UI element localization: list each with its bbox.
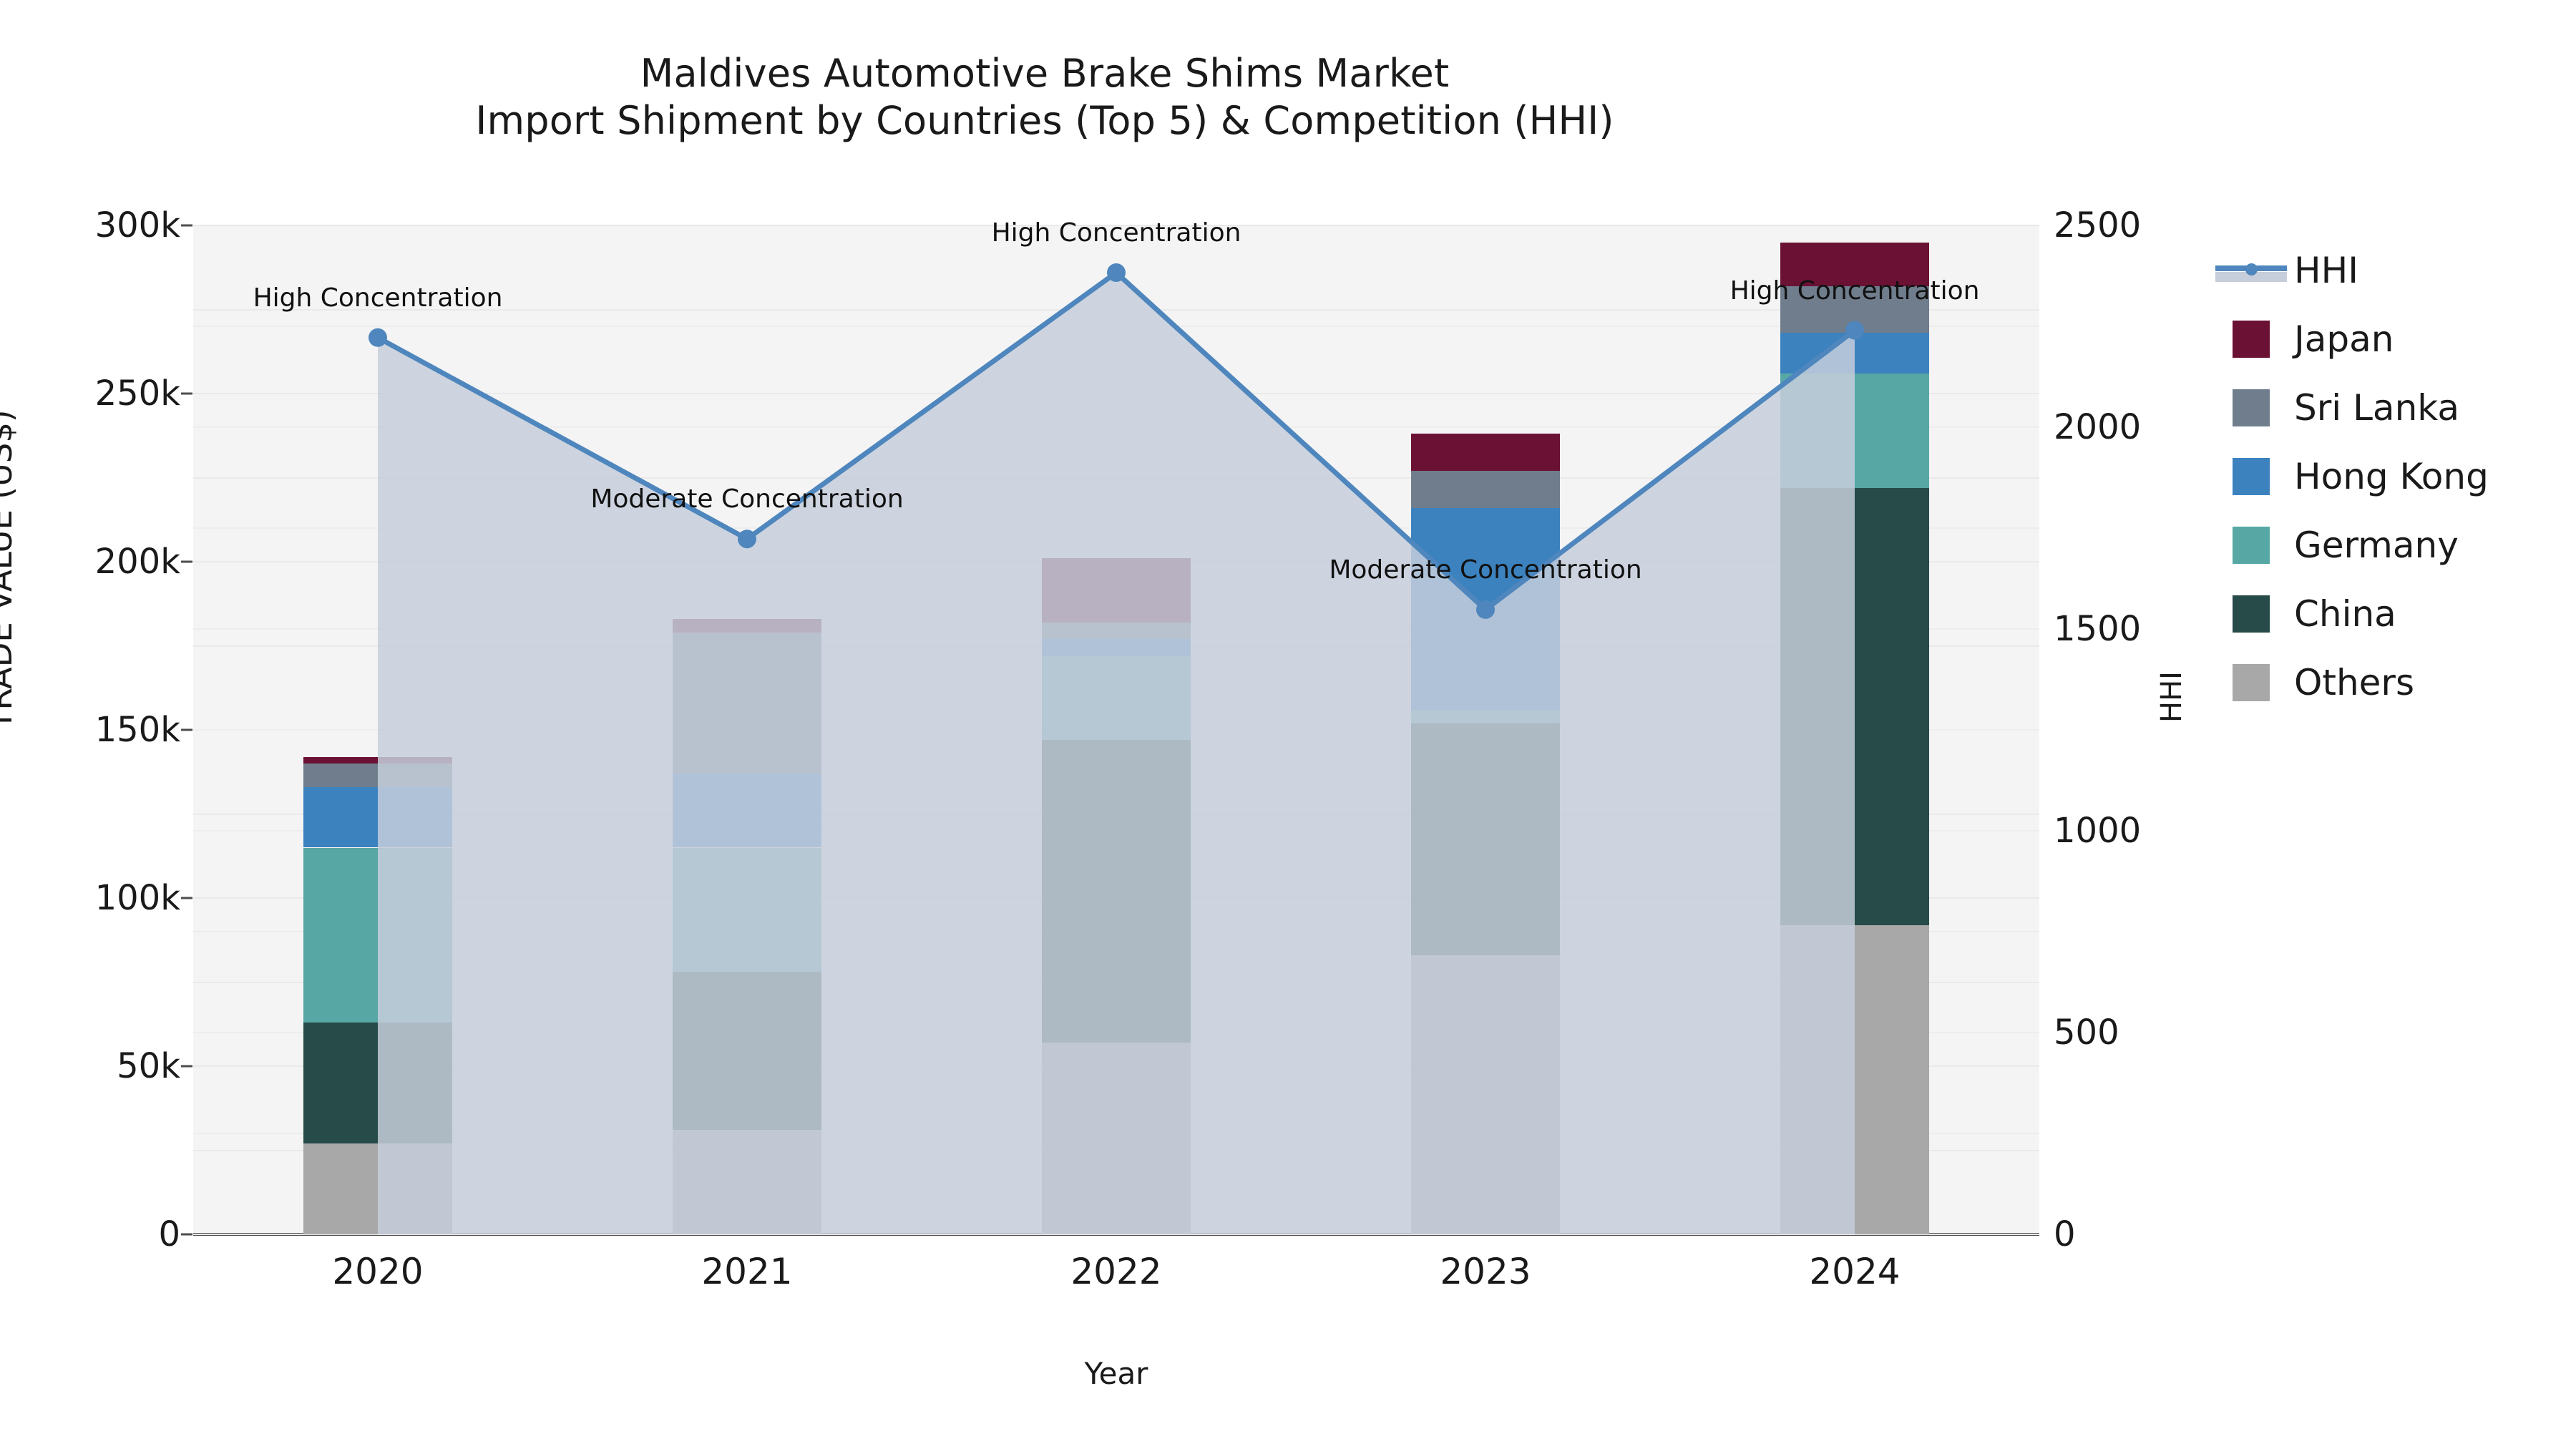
hhi-point-marker[interactable] <box>738 530 756 548</box>
chart-legend: HHIJapanSri LankaHong KongGermanyChinaOt… <box>2233 236 2569 717</box>
legend-item[interactable]: HHI <box>2233 236 2569 305</box>
y-axis-left-tick-label: 100k <box>0 878 180 918</box>
chart-title-line-2: Import Shipment by Countries (Top 5) & C… <box>0 97 2089 145</box>
legend-color-swatch-icon <box>2233 527 2270 564</box>
legend-item-label: Germany <box>2294 525 2459 566</box>
x-axis-tick-label: 2022 <box>973 1251 1259 1292</box>
concentration-annotation: High Concentration <box>992 218 1241 248</box>
legend-color-swatch-icon <box>2233 595 2270 633</box>
hhi-point-marker[interactable] <box>369 328 387 347</box>
legend-item-label: Sri Lanka <box>2294 387 2459 429</box>
legend-item[interactable]: Germany <box>2233 511 2569 580</box>
y-axis-left-tick-label: 0 <box>0 1214 180 1254</box>
legend-item[interactable]: China <box>2233 580 2569 648</box>
legend-item-label: Japan <box>2294 318 2394 360</box>
legend-item-label: China <box>2294 593 2396 635</box>
legend-color-swatch-icon <box>2233 389 2270 426</box>
y-axis-right-tick-label: 1000 <box>2054 811 2268 851</box>
hhi-line-series <box>193 225 2039 1234</box>
legend-item-label: HHI <box>2294 250 2358 291</box>
x-axis-label: Year <box>193 1356 2039 1391</box>
y-axis-left-tick-label: 250k <box>0 374 180 414</box>
y-axis-left-tick-mark <box>181 393 192 395</box>
y-axis-left-tick-mark <box>181 1065 192 1068</box>
y-axis-left-tick-mark <box>181 1234 192 1236</box>
y-axis-left-tick-label: 150k <box>0 710 180 750</box>
hhi-point-marker[interactable] <box>1107 263 1126 282</box>
legend-item-label: Hong Kong <box>2294 456 2489 497</box>
legend-color-swatch-icon <box>2233 458 2270 495</box>
legend-item[interactable]: Others <box>2233 648 2569 717</box>
x-axis-tick-label: 2021 <box>604 1251 890 1292</box>
concentration-annotation: Moderate Concentration <box>1329 555 1641 585</box>
concentration-annotation: High Concentration <box>253 283 503 313</box>
y-axis-left-tick-mark <box>181 561 192 563</box>
y-axis-right-tick-label: 500 <box>2054 1013 2268 1053</box>
chart-title: Maldives Automotive Brake Shims Market I… <box>0 50 2089 145</box>
hhi-point-marker[interactable] <box>1476 600 1495 619</box>
y-axis-left-tick-mark <box>181 729 192 731</box>
chart-figure: Maldives Automotive Brake Shims Market I… <box>0 0 2576 1449</box>
x-axis-tick-label: 2020 <box>235 1251 521 1292</box>
chart-title-line-1: Maldives Automotive Brake Shims Market <box>0 50 2089 97</box>
concentration-annotation: Moderate Concentration <box>590 484 903 514</box>
legend-color-swatch-icon <box>2233 321 2270 358</box>
legend-item-label: Others <box>2294 662 2414 703</box>
y-axis-left-tick-label: 50k <box>0 1046 180 1086</box>
y-axis-right-label: HHI <box>2155 671 2188 723</box>
legend-item[interactable]: Sri Lanka <box>2233 374 2569 442</box>
x-axis-tick-label: 2024 <box>1712 1251 1998 1292</box>
legend-line-marker-icon <box>2233 252 2270 289</box>
legend-color-swatch-icon <box>2233 664 2270 701</box>
legend-item[interactable]: Hong Kong <box>2233 442 2569 511</box>
x-axis-tick-label: 2023 <box>1342 1251 1629 1292</box>
y-axis-left-tick-label: 300k <box>0 205 180 245</box>
legend-item[interactable]: Japan <box>2233 305 2569 374</box>
y-axis-right-tick-label: 0 <box>2054 1214 2268 1254</box>
y-axis-left-tick-mark <box>181 225 192 227</box>
y-axis-left-tick-label: 200k <box>0 542 180 582</box>
y-axis-left-tick-mark <box>181 897 192 899</box>
concentration-annotation: High Concentration <box>1730 276 1980 306</box>
hhi-point-marker[interactable] <box>1845 321 1864 340</box>
hhi-area-fill <box>378 273 1855 1234</box>
